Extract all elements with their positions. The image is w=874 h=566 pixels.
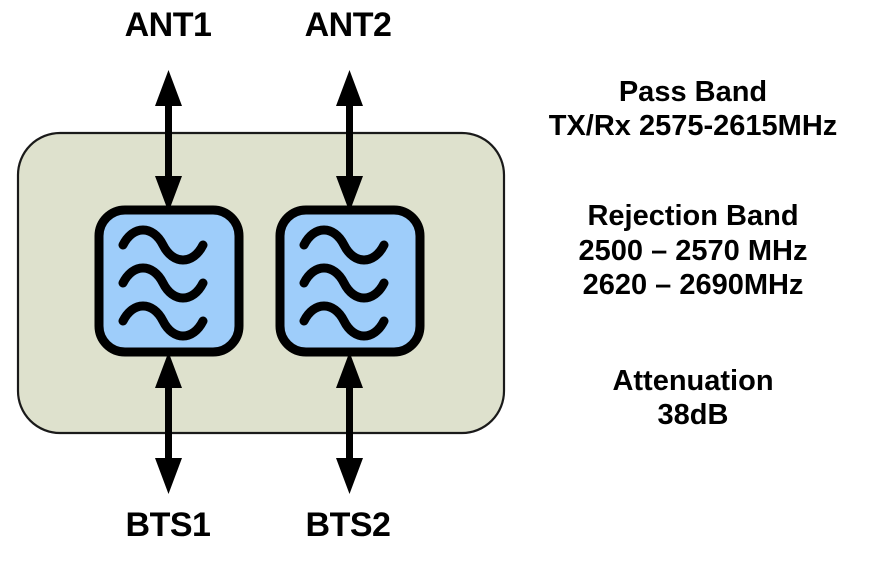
filter-block-2[interactable] xyxy=(280,210,420,352)
filter-block-1[interactable] xyxy=(99,210,239,352)
attenuation-heading: Attenuation xyxy=(512,364,874,398)
rejection-band-range-2: 2620 – 2690MHz xyxy=(512,268,874,302)
rejection-band-range-1: 2500 – 2570 MHz xyxy=(512,234,874,268)
pass-band-range: TX/Rx 2575-2615MHz xyxy=(512,109,874,143)
label-bts2: BTS2 xyxy=(248,506,448,545)
rejection-band-heading: Rejection Band xyxy=(512,199,874,233)
attenuation-value: 38dB xyxy=(512,398,874,432)
spec-group-pass-band: Pass Band TX/Rx 2575-2615MHz xyxy=(512,75,874,143)
diagram-canvas: ANT1 ANT2 BTS1 BTS2 Pass Band TX/Rx 2575… xyxy=(0,0,874,566)
filter-schematic xyxy=(0,0,540,566)
spec-group-attenuation: Attenuation 38dB xyxy=(512,364,874,432)
pass-band-heading: Pass Band xyxy=(512,75,874,109)
specifications-panel: Pass Band TX/Rx 2575-2615MHz Rejection B… xyxy=(512,0,874,566)
label-ant1: ANT1 xyxy=(68,6,268,45)
label-bts1: BTS1 xyxy=(68,506,268,545)
filter-enclosure xyxy=(18,133,504,433)
spec-group-rejection-band: Rejection Band 2500 – 2570 MHz 2620 – 26… xyxy=(512,199,874,302)
label-ant2: ANT2 xyxy=(248,6,448,45)
